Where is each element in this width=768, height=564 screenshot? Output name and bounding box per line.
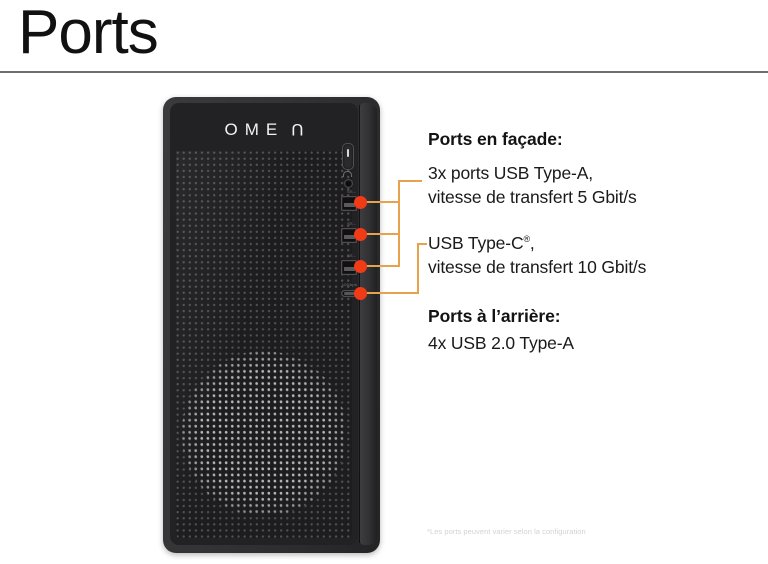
- headphone-jack-port: [344, 179, 353, 188]
- front-usbc-line-2: vitesse de transfert 10 Gbit/s: [428, 255, 758, 279]
- omen-logo-flipped-n: U: [284, 121, 310, 138]
- usb-c-port-1: [341, 290, 357, 297]
- configuration-footnote: *Les ports peuvent varier selon la confi…: [427, 527, 586, 536]
- rear-ports-heading: Ports à l’arrière:: [428, 305, 758, 328]
- omen-logo: OMEU: [170, 121, 358, 138]
- front-ports-block: Ports en façade: 3x ports USB Type-A, vi…: [428, 128, 758, 279]
- front-usba-line-2: vitesse de transfert 5 Gbit/s: [428, 185, 758, 209]
- usb-c-1-label: 10Gbps: [342, 283, 357, 287]
- leader-elbow-usba: [398, 180, 422, 182]
- front-usba-line-1: 3x ports USB Type-A,: [428, 161, 758, 185]
- usb-a-port-1: [341, 196, 357, 211]
- headphone-icon: [343, 171, 352, 177]
- page-title: Ports: [18, 0, 158, 69]
- rear-ports-line-1: 4x USB 2.0 Type-A: [428, 331, 758, 355]
- usb-a-1-label: SS←: [347, 190, 357, 194]
- omen-logo-text: OME: [224, 120, 284, 139]
- usbc-label-text: USB Type-C: [428, 233, 523, 253]
- leader-trunk-usba: [398, 180, 400, 267]
- tower-side-panel: [360, 103, 377, 545]
- front-ports-heading: Ports en façade:: [428, 128, 758, 151]
- panel-seam: [359, 105, 360, 543]
- tower-front-panel: OMEU: [170, 103, 358, 545]
- omen-desktop-tower-image: OMEU SS← SS← SS← 10Gbps: [163, 97, 380, 553]
- front-usbc-line-1: USB Type-C®,: [428, 231, 758, 255]
- power-button-icon: [342, 143, 354, 170]
- usb-a-port-2: [341, 228, 357, 243]
- usbc-label-comma: ,: [530, 233, 535, 253]
- usb-a-3-label: SS←: [347, 254, 357, 258]
- front-mesh-perforation: [176, 151, 352, 538]
- rear-ports-block: Ports à l’arrière: 4x USB 2.0 Type-A: [428, 305, 758, 355]
- usb-a-port-3: [341, 260, 357, 275]
- leader-elbow-usbc: [417, 243, 427, 245]
- ports-spec-slide: Ports OMEU SS← SS← SS← 10Gbps: [0, 0, 768, 564]
- front-ports-usba-item: 3x ports USB Type-A, vitesse de transfer…: [428, 161, 758, 209]
- title-divider: [0, 71, 768, 73]
- front-ports-usbc-item: USB Type-C®, vitesse de transfert 10 Gbi…: [428, 231, 758, 279]
- usb-a-2-label: SS←: [347, 222, 357, 226]
- specs-copy-column: Ports en façade: 3x ports USB Type-A, vi…: [428, 128, 758, 355]
- front-fan-through-mesh: [182, 351, 347, 516]
- leader-trunk-usbc: [417, 243, 419, 294]
